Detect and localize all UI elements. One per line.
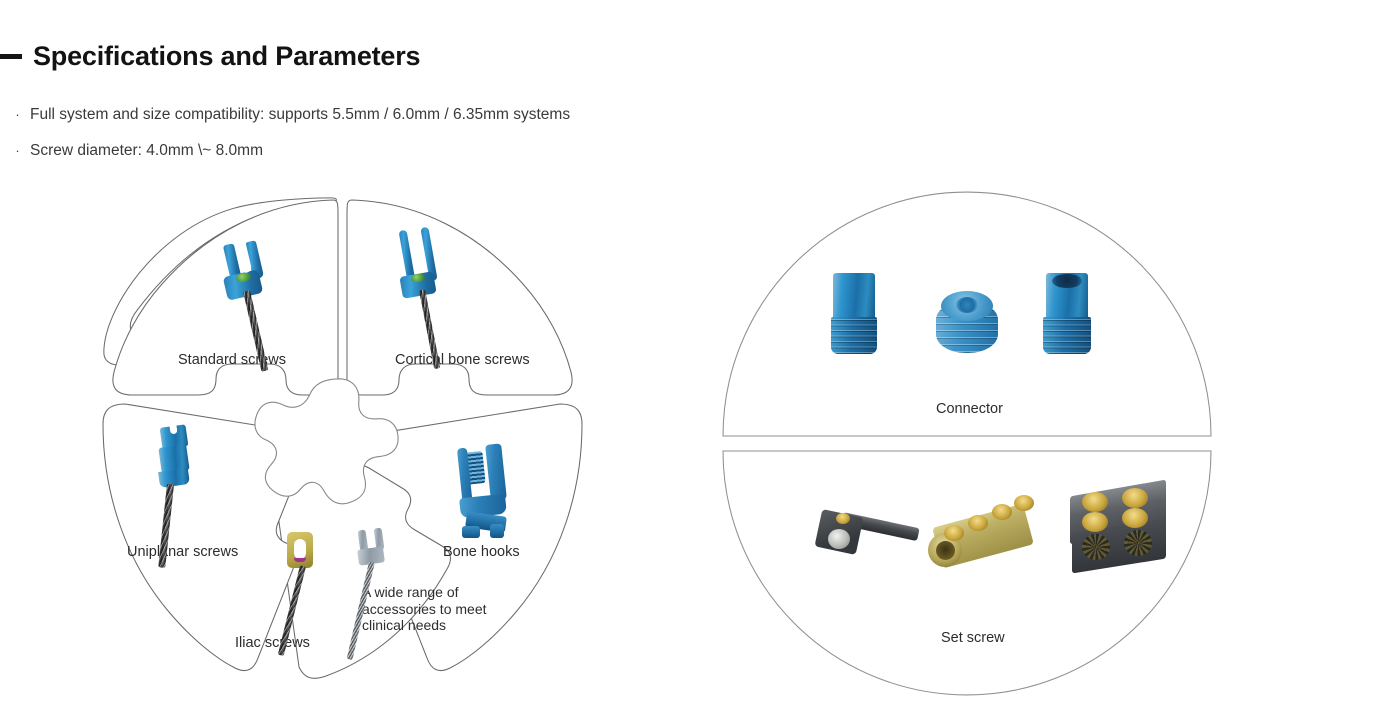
uniplanar-screw-image — [153, 422, 213, 572]
page-title-text: Specifications and Parameters — [33, 43, 420, 70]
bullet-dot-icon: · — [13, 141, 22, 161]
grey-dual-block-image — [1064, 482, 1182, 578]
blue-disc-rosette-image — [934, 289, 1000, 355]
section-label-set-screw: Set screw — [941, 630, 1005, 647]
section-label-connector: Connector — [936, 401, 1003, 418]
gold-connector-block-image — [926, 489, 1052, 579]
standard-screw-image — [218, 239, 282, 379]
em-dash-marker-icon — [0, 54, 22, 59]
list-item: · Screw diameter: 4.0mm \~ 8.0mm — [13, 141, 570, 161]
bullet-text: Full system and size compatibility: supp… — [30, 105, 570, 125]
iliac-screw-image — [285, 532, 345, 672]
bullet-dot-icon: · — [13, 105, 22, 125]
spec-bullet-list: · Full system and size compatibility: su… — [13, 105, 570, 177]
connector-setscrew-diagram: Connector Set screw — [716, 190, 1221, 695]
blue-plug-socket-image — [1043, 273, 1093, 355]
blue-plug-hex-image — [831, 273, 879, 355]
page-title: Specifications and Parameters — [0, 43, 420, 70]
list-item: · Full system and size compatibility: su… — [13, 105, 570, 125]
cortical-bone-screw-image — [395, 230, 465, 380]
iliac-fork-screw-image — [355, 528, 415, 678]
accessories-rosette-diagram: A wide range of accessories to meet clin… — [90, 192, 595, 697]
bullet-text: Screw diameter: 4.0mm \~ 8.0mm — [30, 141, 263, 161]
bone-hook-image — [458, 440, 538, 560]
grey-rod-tool-image — [814, 501, 924, 565]
